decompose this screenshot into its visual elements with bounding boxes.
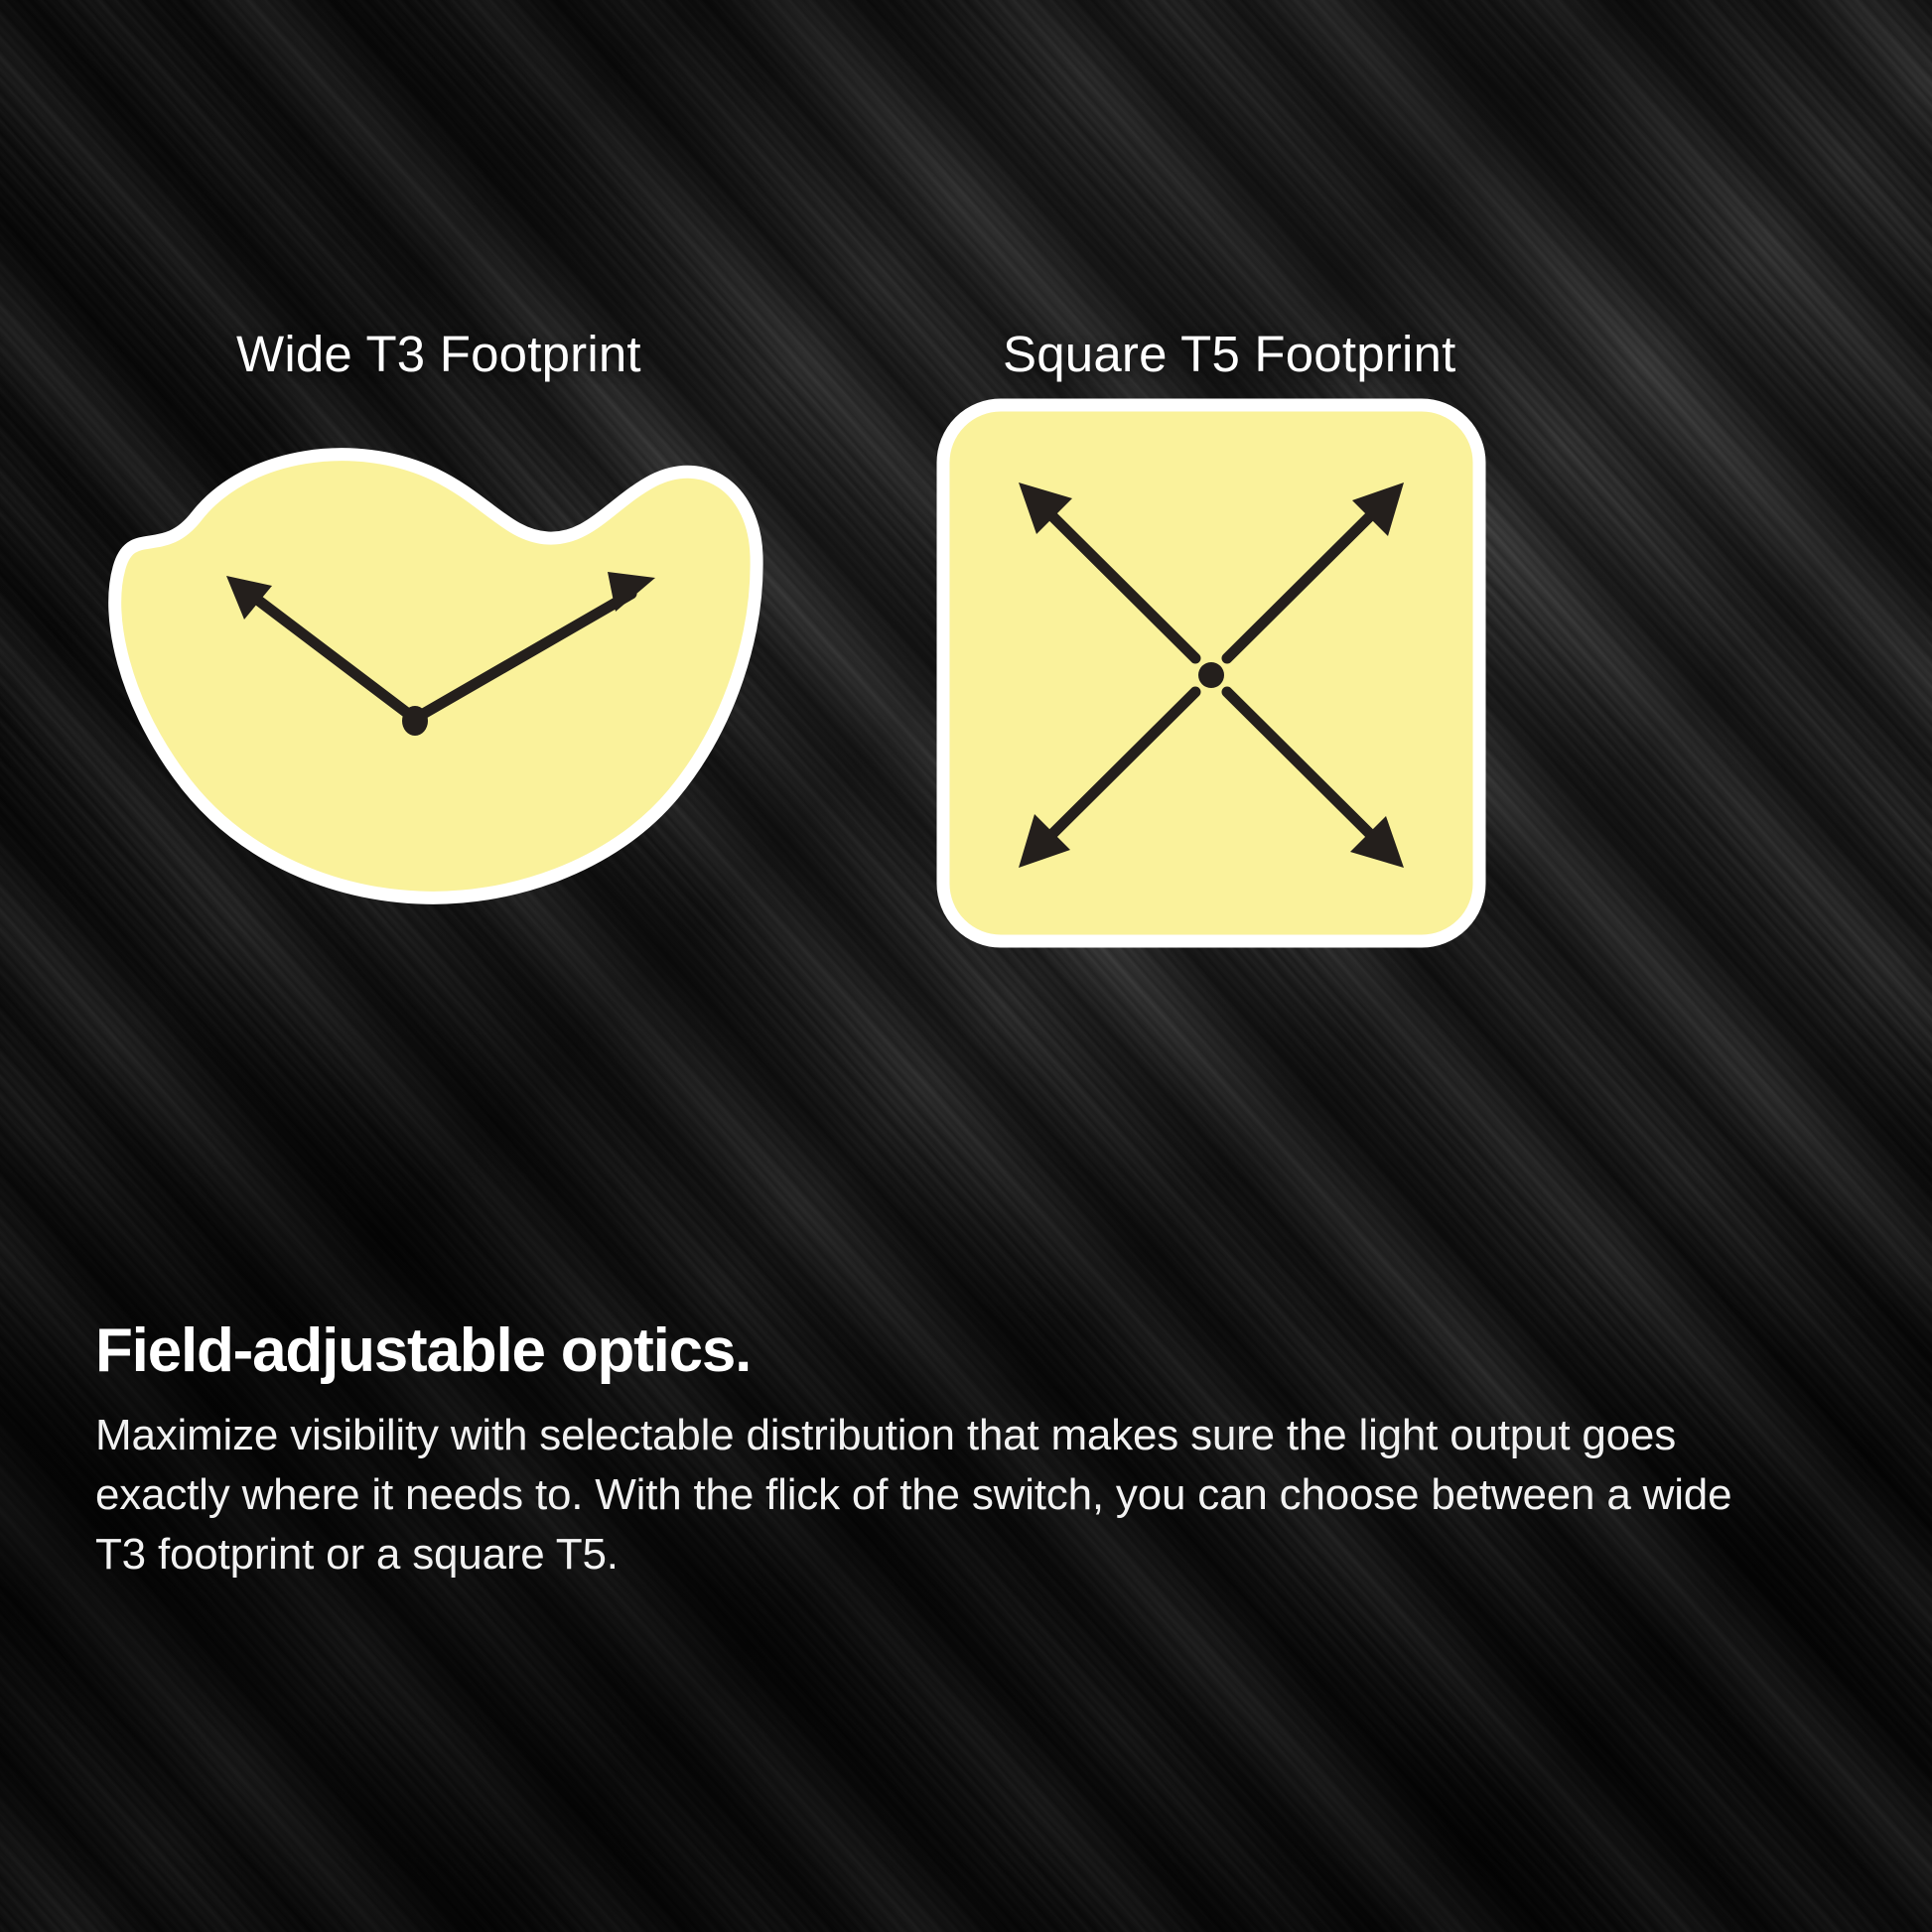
copy-block: Field-adjustable optics. Maximize visibi… [95, 1320, 1783, 1584]
t5-origin-dot [1198, 662, 1224, 688]
promo-slide: Wide T3 Footprint Square T5 Footprint [0, 0, 1932, 1932]
t3-origin-dot [402, 706, 428, 736]
slide-content: Wide T3 Footprint Square T5 Footprint [0, 0, 1932, 1932]
wide-t3-footprint-label: Wide T3 Footprint [236, 325, 641, 383]
headline: Field-adjustable optics. [95, 1320, 1783, 1382]
wide-t3-footprint-shape [115, 455, 757, 898]
square-t5-footprint-label: Square T5 Footprint [1003, 325, 1455, 383]
square-t5-footprint-diagram [913, 377, 1509, 973]
wide-t3-footprint-diagram [60, 427, 774, 923]
body-copy: Maximize visibility with selectable dist… [95, 1406, 1753, 1584]
